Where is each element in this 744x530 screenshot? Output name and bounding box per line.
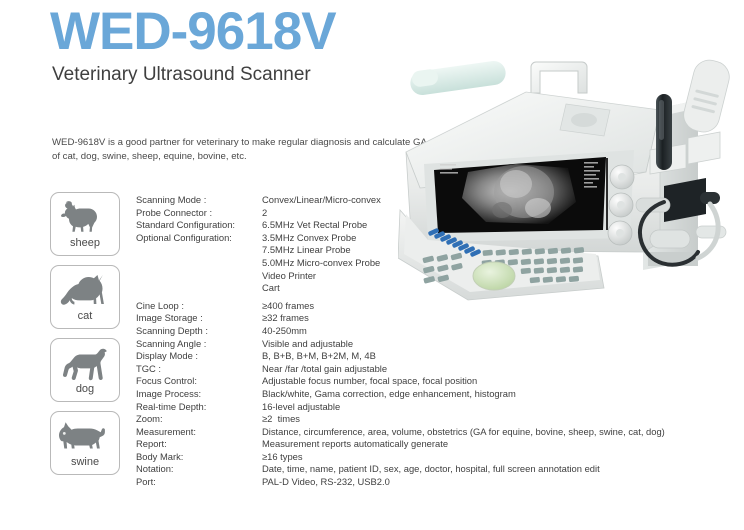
- spec-value: 5.0MHz Micro-convex Probe: [262, 257, 380, 270]
- spec-row: Focus Control: Adjustable focus number, …: [136, 375, 736, 388]
- spec-label: Focus Control:: [136, 375, 262, 388]
- spec-label: TGC :: [136, 363, 262, 376]
- spec-label: Optional Configuration:: [136, 232, 262, 245]
- spec-label: Zoom:: [136, 413, 262, 426]
- spec-label: Port:: [136, 476, 262, 489]
- spec-row: Zoom: ≥2 times: [136, 413, 736, 426]
- spec-value: 7.5MHz Linear Probe: [262, 244, 351, 257]
- animal-label: swine: [51, 456, 119, 468]
- spec-value: B, B+B, B+M, B+2M, M, 4B: [262, 350, 376, 363]
- spec-value: Cart: [262, 282, 280, 295]
- dog-icon: [51, 345, 119, 381]
- spec-label: Probe Connector :: [136, 207, 262, 220]
- animal-label: dog: [51, 383, 119, 395]
- spec-value: 2: [262, 207, 267, 220]
- ultrasound-fetal-image: [462, 164, 576, 224]
- swine-icon: [51, 418, 119, 454]
- animal-label: sheep: [51, 237, 119, 249]
- spec-label: Image Storage :: [136, 312, 262, 325]
- page-subtitle: Veterinary Ultrasound Scanner: [52, 64, 311, 86]
- spec-label: Scanning Mode :: [136, 194, 262, 207]
- spec-value: 6.5MHz Vet Rectal Probe: [262, 219, 367, 232]
- animal-label: cat: [51, 310, 119, 322]
- spec-value: ≥32 frames: [262, 312, 309, 325]
- spec-label: Notation:: [136, 463, 262, 476]
- control-knobs: [608, 165, 634, 245]
- carry-handle: [531, 62, 587, 93]
- spec-row: Image Storage : ≥32 frames: [136, 312, 736, 325]
- spec-row: TGC : Near /far /total gain adjustable: [136, 363, 736, 376]
- spec-row: Display Mode : B, B+B, B+M, B+2M, M, 4B: [136, 350, 736, 363]
- spec-label: Image Process:: [136, 388, 262, 401]
- spec-row: Notation: Date, time, name, patient ID, …: [136, 463, 736, 476]
- spec-row: Scanning Angle : Visible and adjustable: [136, 338, 736, 351]
- page-title: WED-9618V: [50, 4, 336, 60]
- spec-value: ≥400 frames: [262, 300, 314, 313]
- spec-value: Date, time, name, patient ID, sex, age, …: [262, 463, 600, 476]
- spec-value: PAL-D Video, RS-232, USB2.0: [262, 476, 390, 489]
- spec-label: Standard Configuration:: [136, 219, 262, 232]
- spec-value: Black/white, Gama correction, edge enhan…: [262, 388, 516, 401]
- spec-value: 40-250mm: [262, 325, 307, 338]
- spec-value: Near /far /total gain adjustable: [262, 363, 387, 376]
- spec-label: [136, 244, 262, 257]
- spec-label: [136, 270, 262, 283]
- spec-row: Image Process: Black/white, Gama correct…: [136, 388, 736, 401]
- spec-value: Video Printer: [262, 270, 316, 283]
- spec-value: Adjustable focus number, focal space, fo…: [262, 375, 477, 388]
- spec-label: Cine Loop :: [136, 300, 262, 313]
- spec-value: 16-level adjustable: [262, 401, 340, 414]
- spec-label: Real-time Depth:: [136, 401, 262, 414]
- spec-label: Body Mark:: [136, 451, 262, 464]
- animal-box-cat: cat: [50, 265, 120, 329]
- spec-label: [136, 257, 262, 270]
- spec-label: Scanning Angle :: [136, 338, 262, 351]
- spec-value: Visible and adjustable: [262, 338, 353, 351]
- cat-icon: [51, 272, 119, 308]
- animal-box-sheep: sheep: [50, 192, 120, 256]
- spec-label: Report:: [136, 438, 262, 451]
- spec-value: 3.5MHz Convex Probe: [262, 232, 356, 245]
- animal-box-swine: swine: [50, 411, 120, 475]
- spec-row: Port: PAL-D Video, RS-232, USB2.0: [136, 476, 736, 489]
- spec-row: Body Mark: ≥16 types: [136, 451, 736, 464]
- animal-icon-list: sheep cat dog: [50, 192, 122, 484]
- animal-box-dog: dog: [50, 338, 120, 402]
- spec-value: Convex/Linear/Micro-convex: [262, 194, 381, 207]
- spec-value: ≥2 times: [262, 413, 300, 426]
- spec-row: Real-time Depth: 16-level adjustable: [136, 401, 736, 414]
- gel-bottle: [409, 59, 507, 96]
- spec-label: Scanning Depth :: [136, 325, 262, 338]
- product-description: WED-9618V is a good partner for veterina…: [52, 136, 432, 164]
- spec-label: [136, 282, 262, 295]
- spec-row: Measurement: Distance, circumference, ar…: [136, 426, 736, 439]
- spec-row: Report: Measurement reports automaticall…: [136, 438, 736, 451]
- spec-value: ≥16 types: [262, 451, 303, 464]
- spec-label: Measurement:: [136, 426, 262, 439]
- spec-row: Scanning Depth : 40-250mm: [136, 325, 736, 338]
- spec-value: Measurement reports automatically genera…: [262, 438, 448, 451]
- trackball: [473, 262, 515, 290]
- spec-label: Display Mode :: [136, 350, 262, 363]
- spec-value: Distance, circumference, area, volume, o…: [262, 426, 665, 439]
- ultrasound-scanner-photo: [398, 52, 744, 302]
- sheep-icon: [51, 199, 119, 235]
- probe-light: [680, 57, 732, 136]
